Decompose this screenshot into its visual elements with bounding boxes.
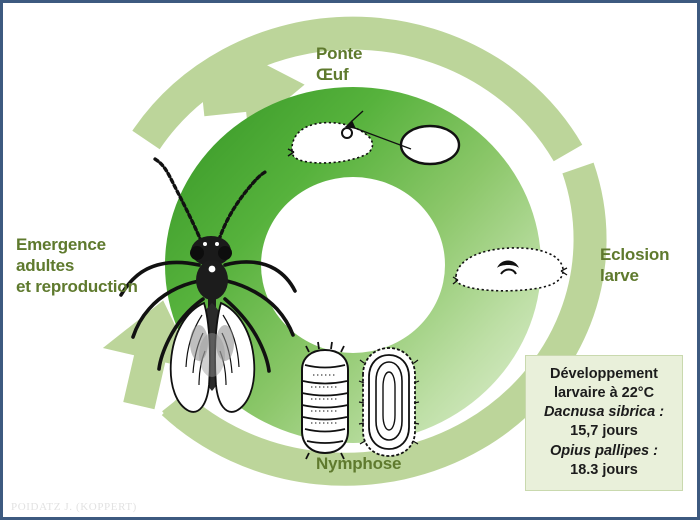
stage-label-eclosion: Eclosion larve xyxy=(600,244,669,286)
info-line-4: Opius pallipes : xyxy=(532,442,676,461)
info-line-0: Développement xyxy=(532,365,676,384)
life-cycle-diagram: Ponte Œuf Emergence adultes et reproduct… xyxy=(0,0,700,520)
info-line-5: 18.3 jours xyxy=(532,461,676,480)
info-line-1: larvaire à 22°C xyxy=(532,384,676,403)
stage-label-nymphose: Nymphose xyxy=(316,453,401,474)
egg-oval-illustration xyxy=(401,126,459,164)
cocoon-illustration xyxy=(359,348,419,456)
info-line-3: 15,7 jours xyxy=(532,422,676,441)
stage-label-emergence: Emergence adultes et reproduction xyxy=(16,234,166,297)
development-info-box: Développement larvaire à 22°C Dacnusa si… xyxy=(525,355,683,491)
info-line-2: Dacnusa sibrica : xyxy=(532,403,676,422)
author-watermark: POIDATZ J. (KOPPERT) xyxy=(11,501,137,513)
stage-label-ponte: Ponte Œuf xyxy=(316,43,362,85)
puparium-illustration xyxy=(302,342,348,459)
